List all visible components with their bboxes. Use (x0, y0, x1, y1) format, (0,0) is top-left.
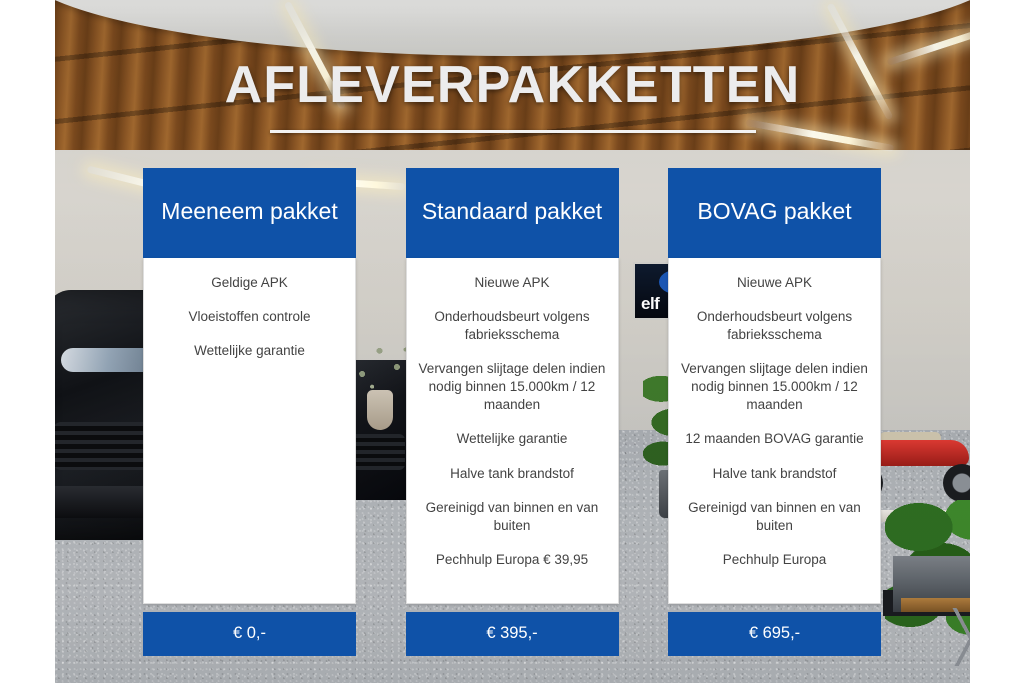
feature-item: Wettelijke garantie (419, 430, 606, 448)
card-feature-list: Nieuwe APK Onderhoudsbeurt volgens fabri… (668, 258, 881, 604)
feature-item: Pechhulp Europa € 39,95 (419, 551, 606, 569)
feature-item: Halve tank brandstof (681, 465, 868, 483)
feature-item: Nieuwe APK (419, 274, 606, 292)
package-card-standaard[interactable]: Standaard pakket Nieuwe APK Onderhoudsbe… (406, 168, 619, 656)
package-card-meeneem[interactable]: Meeneem pakket Geldige APK Vloeistoffen … (143, 168, 356, 656)
feature-item: Onderhoudsbeurt volgens fabrieksschema (681, 308, 868, 344)
stool-legs (935, 608, 970, 666)
feature-item: Nieuwe APK (681, 274, 868, 292)
feature-item: Wettelijke garantie (156, 342, 343, 360)
package-card-list: Meeneem pakket Geldige APK Vloeistoffen … (143, 168, 881, 656)
feature-item: Gereinigd van binnen en van buiten (681, 499, 868, 535)
feature-item: Pechhulp Europa (681, 551, 868, 569)
feature-item: Gereinigd van binnen en van buiten (419, 499, 606, 535)
promo-slide: elf AFLEVERPAKKETTEN Meeneem pakket Geld… (0, 0, 1024, 683)
title-block: AFLEVERPAKKETTEN (55, 58, 970, 133)
card-header-title: Meeneem pakket (143, 168, 356, 258)
title-divider (270, 130, 756, 133)
card-feature-list: Nieuwe APK Onderhoudsbeurt volgens fabri… (406, 258, 619, 604)
feature-item: Onderhoudsbeurt volgens fabrieksschema (419, 308, 606, 344)
page-title: AFLEVERPAKKETTEN (55, 58, 970, 112)
feature-item: Vervangen slijtage delen indien nodig bi… (681, 360, 868, 414)
card-feature-list: Geldige APK Vloeistoffen controle Wettel… (143, 258, 356, 604)
card-price[interactable]: € 395,- (406, 612, 619, 656)
feature-item: 12 maanden BOVAG garantie (681, 430, 868, 448)
card-price[interactable]: € 695,- (668, 612, 881, 656)
feature-item: Geldige APK (156, 274, 343, 292)
card-header-title: Standaard pakket (406, 168, 619, 258)
card-price[interactable]: € 0,- (143, 612, 356, 656)
card-header-title: BOVAG pakket (668, 168, 881, 258)
feature-item: Halve tank brandstof (419, 465, 606, 483)
package-card-bovag[interactable]: BOVAG pakket Nieuwe APK Onderhoudsbeurt … (668, 168, 881, 656)
motorcycle-wheel (943, 464, 970, 502)
feature-item: Vervangen slijtage delen indien nodig bi… (419, 360, 606, 414)
feature-item: Vloeistoffen controle (156, 308, 343, 326)
